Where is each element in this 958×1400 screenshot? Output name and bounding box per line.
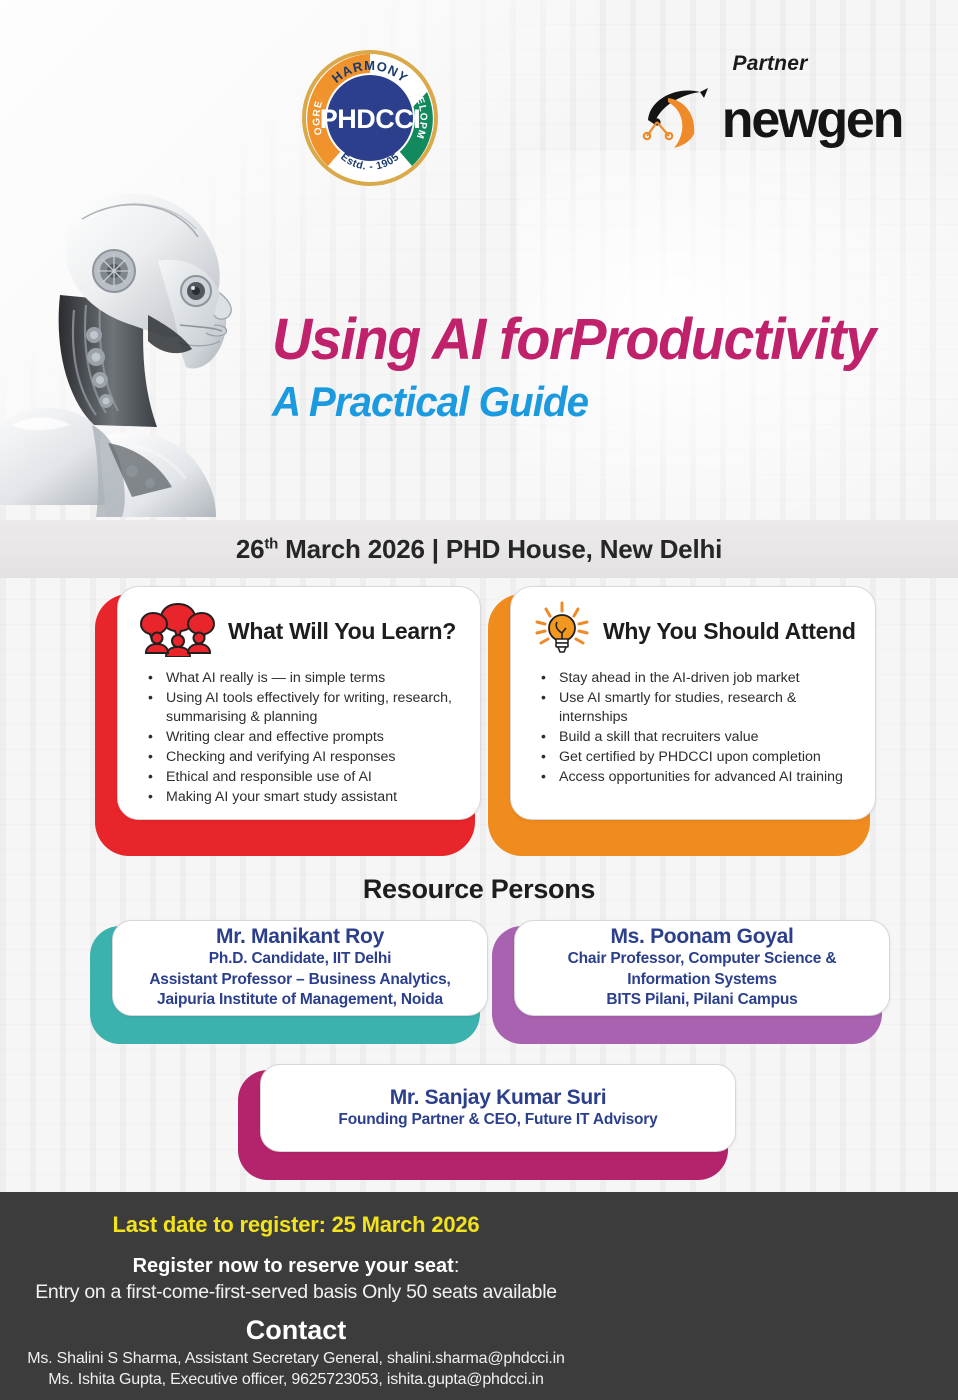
- rp-detail: Founding Partner & CEO, Future IT Adviso…: [338, 1110, 657, 1130]
- card-bullet-list: What AI really is — in simple terms Usin…: [140, 669, 464, 807]
- list-item: Stay ahead in the AI-driven job market: [533, 669, 859, 688]
- robot-illustration: [0, 175, 282, 535]
- info-cards: What Will You Learn? What AI really is —…: [0, 594, 958, 864]
- rp-detail: BITS Pilani, Pilani Campus: [606, 990, 797, 1010]
- rp-detail: Ph.D. Candidate, IIT Delhi: [209, 949, 392, 969]
- rp-name: Mr. Sanjay Kumar Suri: [390, 1086, 607, 1110]
- rp-detail: Assistant Professor – Business Analytics…: [149, 970, 450, 990]
- rp-body: Mr. Sanjay Kumar Suri Founding Partner &…: [260, 1064, 736, 1152]
- card-bullet-list: Stay ahead in the AI-driven job market U…: [533, 669, 859, 787]
- list-item: Ethical and responsible use of AI: [140, 768, 464, 787]
- card-header: What Will You Learn?: [140, 603, 464, 659]
- date-venue-text: 26th March 2026 | PHD House, New Delhi: [236, 534, 722, 565]
- list-item: Using AI tools effectively for writing, …: [140, 689, 464, 727]
- list-item: Get certified by PHDCCI upon completion: [533, 748, 859, 767]
- page-title: Using AI forProductivity: [272, 312, 906, 369]
- card-body: What Will You Learn? What AI really is —…: [117, 586, 481, 820]
- list-item: Writing clear and effective prompts: [140, 728, 464, 747]
- card-why-you-should-attend: Why You Should Attend Stay ahead in the …: [488, 594, 870, 856]
- newgen-swoosh-icon: [638, 84, 716, 155]
- register-prompt: Register now to reserve your seat:: [0, 1255, 592, 1278]
- event-poster: HARMONY PROGRESS DEVELOPMENT Estd. - 190…: [0, 0, 958, 1400]
- resource-person-card-2: Ms. Poonam Goyal Chair Professor, Comput…: [492, 926, 882, 1044]
- phdcci-logo: HARMONY PROGRESS DEVELOPMENT Estd. - 190…: [300, 48, 440, 188]
- partner-block: Partner newgen: [620, 52, 920, 155]
- card-title: Why You Should Attend: [603, 618, 856, 645]
- list-item: Checking and verifying AI responses: [140, 748, 464, 767]
- rp-detail: Jaipuria Institute of Management, Noida: [157, 990, 443, 1010]
- contact-line-2[interactable]: Ms. Ishita Gupta, Executive officer, 962…: [0, 1371, 592, 1389]
- rp-detail: Information Systems: [627, 970, 777, 990]
- resource-person-card-1: Mr. Manikant Roy Ph.D. Candidate, IIT De…: [90, 926, 480, 1044]
- partner-label: Partner: [620, 52, 920, 76]
- register-prompt-bold: Register now to reserve your seat: [133, 1255, 454, 1277]
- people-speech-bubbles-icon: [140, 601, 216, 662]
- rp-name: Mr. Manikant Roy: [216, 925, 384, 949]
- list-item: Access opportunities for advanced AI tra…: [533, 768, 859, 787]
- rp-body: Mr. Manikant Roy Ph.D. Candidate, IIT De…: [112, 920, 488, 1016]
- card-what-will-you-learn: What Will You Learn? What AI really is —…: [95, 594, 475, 856]
- contact-line-1[interactable]: Ms. Shalini S Sharma, Assistant Secretar…: [0, 1350, 592, 1368]
- poster-header: HARMONY PROGRESS DEVELOPMENT Estd. - 190…: [0, 0, 958, 190]
- entry-note: Entry on a first-come-first-served basis…: [0, 1281, 592, 1304]
- svg-text:PHDCCI: PHDCCI: [320, 104, 421, 134]
- poster-footer: Last date to register: 25 March 2026 Reg…: [0, 1192, 958, 1400]
- list-item: What AI really is — in simple terms: [140, 669, 464, 688]
- rp-name: Ms. Poonam Goyal: [610, 925, 793, 949]
- date-venue-bar: 26th March 2026 | PHD House, New Delhi: [0, 520, 958, 578]
- resource-persons-heading: Resource Persons: [0, 874, 958, 905]
- page-subtitle: A Practical Guide: [272, 381, 906, 423]
- date-rest: March 2026 | PHD House, New Delhi: [278, 534, 722, 564]
- footer-left-column: Last date to register: 25 March 2026 Reg…: [0, 1192, 592, 1400]
- rp-detail: Chair Professor, Computer Science &: [568, 949, 837, 969]
- resource-person-card-3: Mr. Sanjay Kumar Suri Founding Partner &…: [238, 1070, 728, 1180]
- card-body: Why You Should Attend Stay ahead in the …: [510, 586, 876, 820]
- contact-heading: Contact: [0, 1315, 592, 1346]
- last-date-text: Last date to register: 25 March 2026: [0, 1212, 592, 1238]
- date-day: 26: [236, 534, 265, 564]
- list-item: Making AI your smart study assistant: [140, 788, 464, 807]
- newgen-logo: newgen: [620, 84, 920, 155]
- card-header: Why You Should Attend: [533, 603, 859, 659]
- list-item: Build a skill that recruiters value: [533, 728, 859, 747]
- register-prompt-colon: :: [454, 1255, 460, 1277]
- lightbulb-icon: [533, 600, 591, 663]
- list-item: Use AI smartly for studies, research & i…: [533, 689, 859, 727]
- rp-body: Ms. Poonam Goyal Chair Professor, Comput…: [514, 920, 890, 1016]
- date-ordinal: th: [264, 535, 278, 552]
- newgen-wordmark: newgen: [722, 94, 902, 146]
- title-block: Using AI forProductivity A Practical Gui…: [272, 312, 932, 423]
- card-title: What Will You Learn?: [228, 618, 456, 645]
